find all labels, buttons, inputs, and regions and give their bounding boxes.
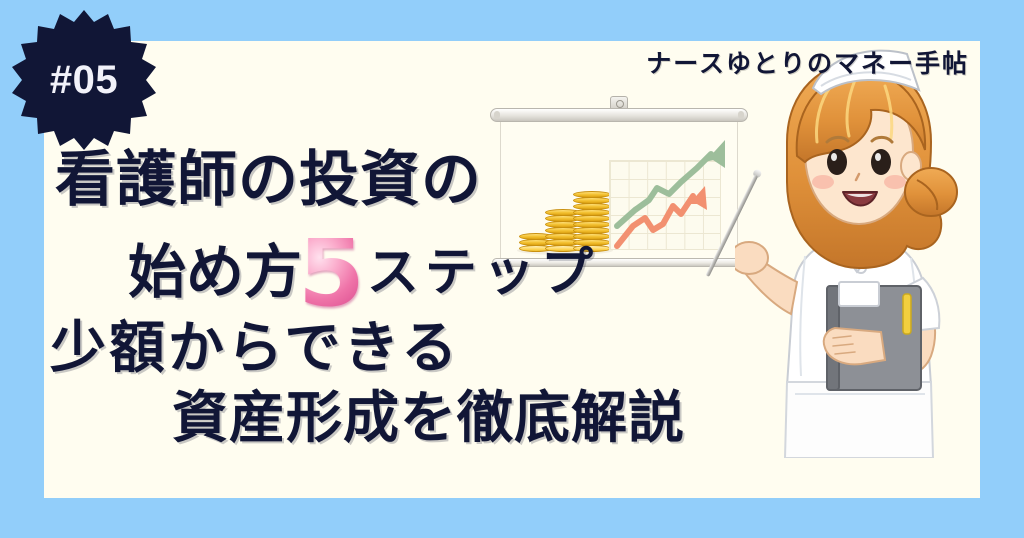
- headline-line-2: 始め方 5 ステップ: [128, 232, 790, 301]
- headline-line-2-suffix: ステップ: [367, 247, 599, 301]
- badge-number-label: #05: [12, 8, 156, 152]
- channel-name: ナースゆとりのマネー手帖: [646, 44, 969, 80]
- headline-line-4: 資産形成を徹底解説: [172, 391, 790, 447]
- balloon-number-five: 5: [298, 238, 365, 307]
- thumbnail-canvas: #05 ナースゆとりのマネー手帖 看護師の投資の 始め方 5 ステップ 少額から…: [0, 0, 1024, 538]
- headline-line-2-prefix: 始め方: [128, 243, 302, 301]
- headline-block: 看護師の投資の 始め方 5 ステップ 少額からできる 資産形成を徹底解説: [0, 150, 790, 447]
- headline-line-3: 少額からできる: [50, 321, 790, 377]
- screen-top-bar: [490, 108, 748, 122]
- headline-line-1: 看護師の投資の: [55, 150, 790, 210]
- episode-number-badge: #05: [12, 8, 156, 152]
